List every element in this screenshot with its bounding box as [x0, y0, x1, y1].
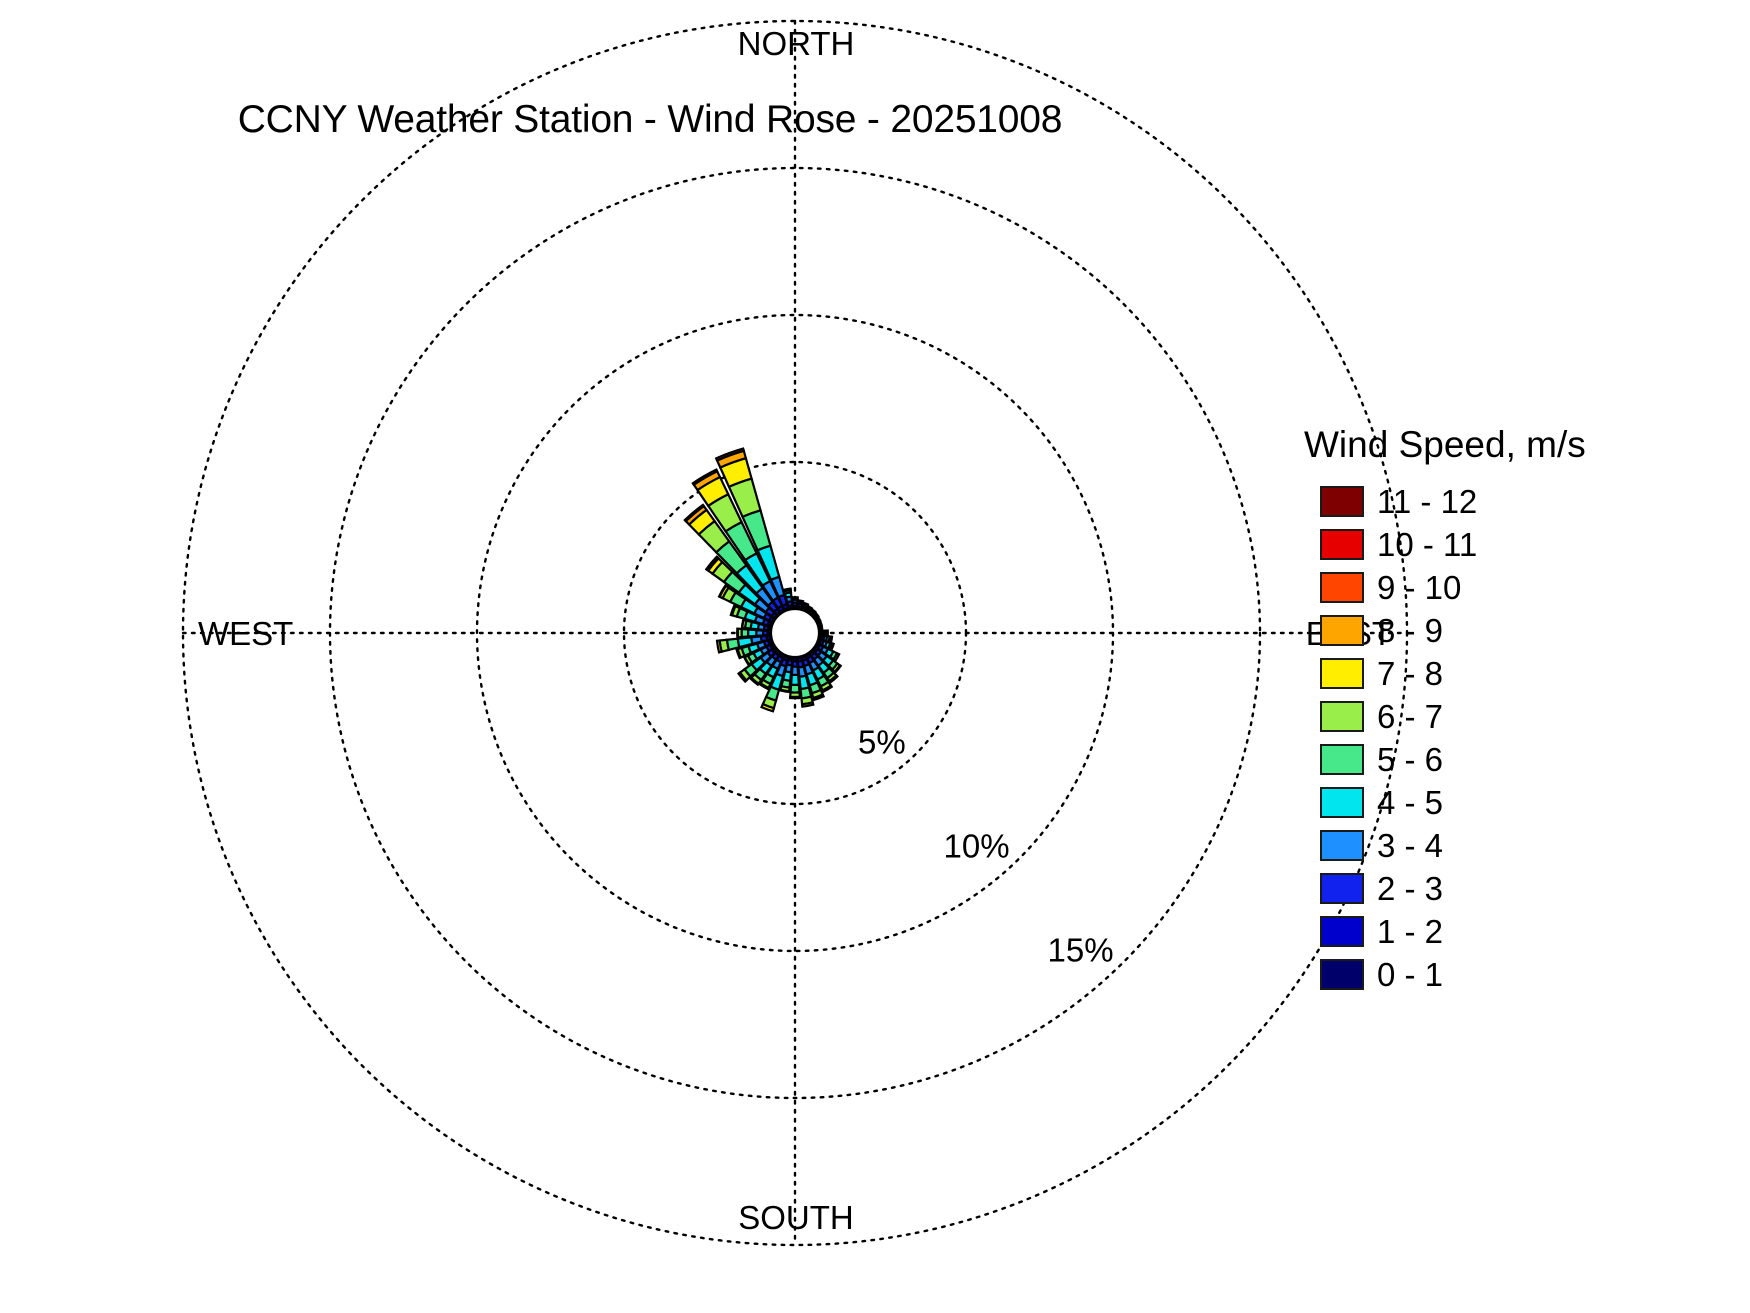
wind-rose-segment: [780, 690, 789, 692]
legend-item-label: 5 - 6: [1377, 743, 1443, 776]
center-hole: [771, 609, 819, 657]
legend-color-swatch: [1320, 486, 1364, 517]
legend-item: 1 - 2: [1320, 910, 1716, 953]
radial-tick-label: 10%: [944, 828, 1010, 865]
calm-center-circle: [771, 609, 819, 657]
legend-item: 0 - 1: [1320, 953, 1716, 996]
wind-rose-segment: [827, 631, 828, 636]
legend-item-label: 0 - 1: [1377, 958, 1443, 991]
legend-color-swatch: [1320, 572, 1364, 603]
legend-item-label: 4 - 5: [1377, 786, 1443, 819]
legend-item-list: 11 - 1210 - 119 - 108 - 97 - 86 - 75 - 6…: [1320, 480, 1716, 996]
legend-color-swatch: [1320, 658, 1364, 689]
legend-color-swatch: [1320, 959, 1364, 990]
legend-item: 3 - 4: [1320, 824, 1716, 867]
wind-rose-segment: [802, 702, 813, 706]
legend-item: 6 - 7: [1320, 695, 1716, 738]
legend-color-swatch: [1320, 615, 1364, 646]
wind-rose-segment: [821, 626, 822, 630]
legend-color-swatch: [1320, 830, 1364, 861]
legend-item-label: 10 - 11: [1377, 528, 1477, 561]
legend-color-swatch: [1320, 744, 1364, 775]
radial-tick-label: 15%: [1047, 932, 1113, 969]
legend-color-swatch: [1320, 529, 1364, 560]
legend-item-label: 7 - 8: [1377, 657, 1443, 690]
legend-item-label: 2 - 3: [1377, 872, 1443, 905]
wind-rose-segment: [830, 637, 832, 643]
legend-color-swatch: [1320, 873, 1364, 904]
legend: Wind Speed, m/s 11 - 1210 - 119 - 108 - …: [1296, 424, 1716, 996]
wind-rose-segment: [737, 629, 738, 638]
legend-item: 2 - 3: [1320, 867, 1716, 910]
legend-color-swatch: [1320, 701, 1364, 732]
legend-item-label: 9 - 10: [1377, 571, 1461, 604]
legend-color-swatch: [1320, 916, 1364, 947]
wind-rose-segment: [792, 597, 797, 598]
legend-item-label: 6 - 7: [1377, 700, 1443, 733]
legend-item-label: 8 - 9: [1377, 614, 1443, 647]
wind-rose-petals: [685, 449, 841, 712]
compass-label-west: WEST: [198, 615, 293, 652]
wind-rose-segment: [803, 603, 808, 605]
wind-rose-segment: [748, 629, 756, 636]
legend-title: Wind Speed, m/s: [1304, 424, 1716, 466]
wind-rose-segment: [742, 620, 744, 628]
legend-item: 5 - 6: [1320, 738, 1716, 781]
compass-label-north: NORTH: [738, 25, 855, 62]
wind-rose-figure: CCNY Weather Station - Wind Rose - 20251…: [0, 0, 1750, 1313]
compass-label-south: SOUTH: [738, 1199, 854, 1236]
wind-rose-segment: [792, 667, 798, 675]
wind-rose-segment: [784, 589, 791, 590]
legend-item: 4 - 5: [1320, 781, 1716, 824]
legend-item: 8 - 9: [1320, 609, 1716, 652]
wind-rose-segment: [717, 641, 722, 653]
wind-rose-segment: [798, 600, 803, 602]
legend-item-label: 11 - 12: [1377, 485, 1477, 518]
radial-tick-label: 5%: [858, 724, 906, 761]
legend-item: 7 - 8: [1320, 652, 1716, 695]
wind-rose-segment: [790, 697, 800, 698]
legend-item: 9 - 10: [1320, 566, 1716, 609]
wind-rose-segment: [820, 622, 822, 626]
wind-rose-segment: [791, 675, 799, 685]
legend-item-label: 1 - 2: [1377, 915, 1443, 948]
legend-item: 11 - 12: [1320, 480, 1716, 523]
legend-color-swatch: [1320, 787, 1364, 818]
legend-item-label: 3 - 4: [1377, 829, 1443, 862]
legend-item: 10 - 11: [1320, 523, 1716, 566]
